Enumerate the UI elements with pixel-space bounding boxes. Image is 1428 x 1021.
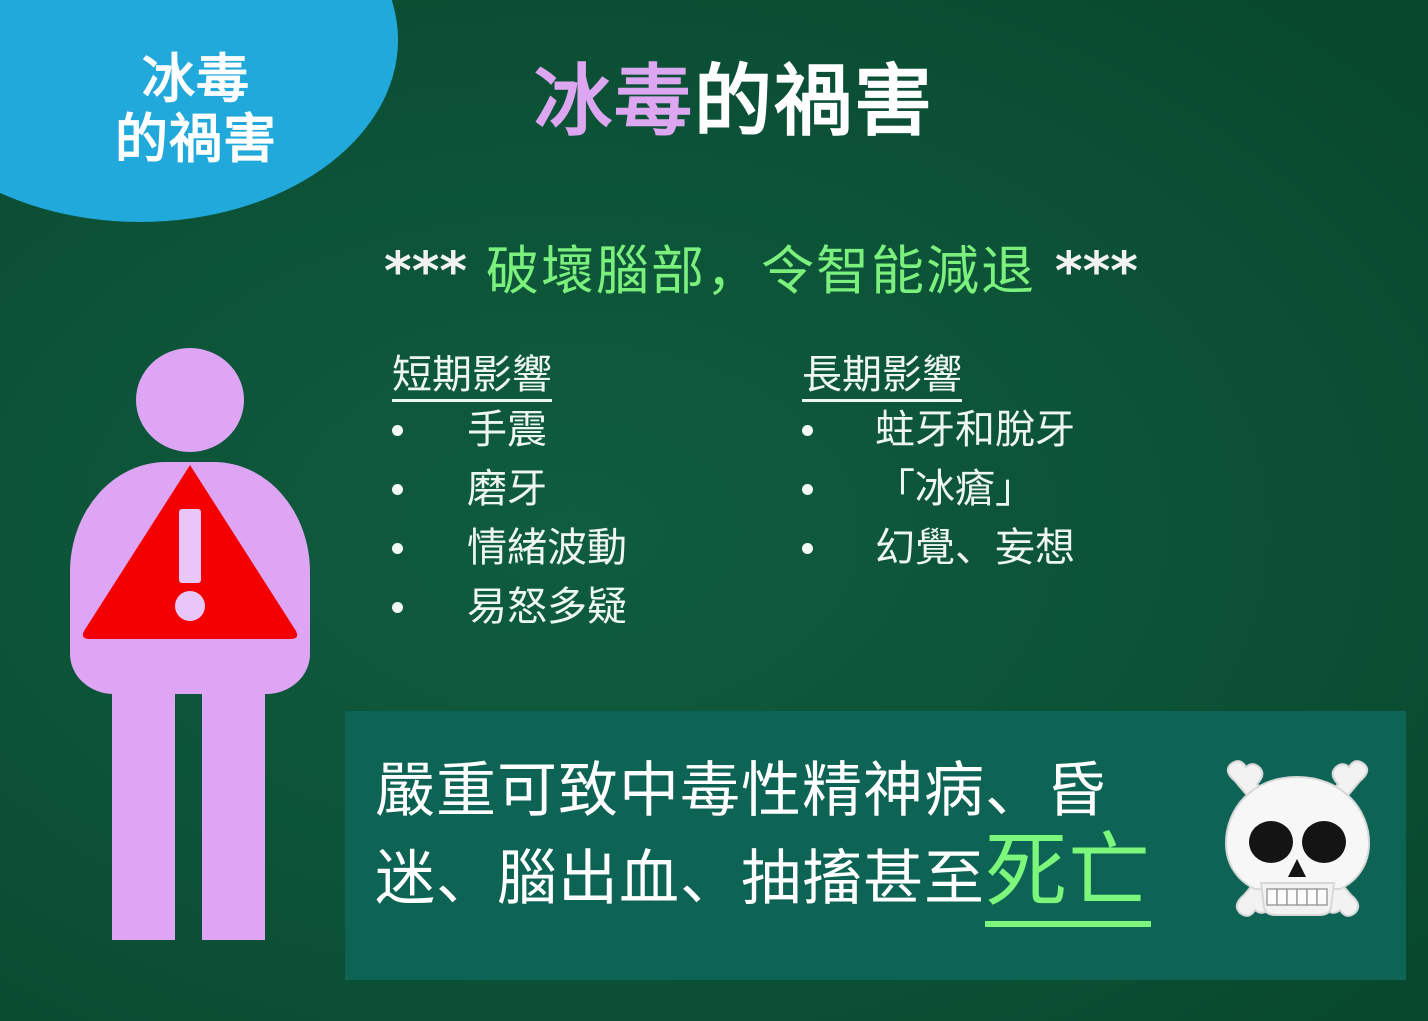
warning-panel-text: 嚴重可致中毒性精神病、昏迷、腦出血、抽搐甚至死亡 — [375, 749, 1210, 921]
person-leg-right — [202, 614, 265, 940]
list-item-label: 蛀牙和脫牙 — [875, 410, 1075, 450]
list-item-label: 「冰瘡」 — [875, 469, 1035, 509]
short-term-column: 短期影響 手震 磨牙 情緒波動 易怒多疑 — [392, 354, 782, 646]
skull-and-crossbones-icon — [1205, 755, 1390, 930]
bullet-dot-icon — [392, 425, 403, 436]
long-term-column: 長期影響 蛀牙和脫牙 「冰瘡」 幻覺、妄想 — [802, 354, 1202, 587]
subtitle-stars-right: *** — [1055, 241, 1138, 302]
list-item: 易怒多疑 — [392, 587, 782, 627]
person-head — [136, 348, 244, 452]
list-item: 情緒波動 — [392, 528, 782, 568]
person-leg-left — [112, 614, 175, 940]
corner-badge-line2: 的禍害 — [115, 110, 277, 170]
long-term-heading: 長期影響 — [802, 354, 962, 402]
long-term-list: 蛀牙和脫牙 「冰瘡」 幻覺、妄想 — [802, 410, 1202, 568]
corner-badge-text: 冰毒 的禍害 — [3, 50, 277, 170]
warning-triangle-icon — [80, 461, 300, 643]
slide-canvas: 冰毒 的禍害 冰毒的禍害 *** 破壞腦部，令智能減退 *** 短期影響 手震 … — [0, 0, 1428, 1021]
subtitle-stars-left: *** — [384, 241, 467, 302]
bullet-dot-icon — [802, 484, 813, 495]
page-title-highlight: 冰毒 — [534, 57, 694, 147]
person-pictogram — [44, 348, 334, 940]
corner-badge-line1: 冰毒 — [115, 50, 277, 110]
bullet-dot-icon — [392, 602, 403, 613]
short-term-list: 手震 磨牙 情緒波動 易怒多疑 — [392, 410, 782, 627]
list-item: 蛀牙和脫牙 — [802, 410, 1202, 450]
bullet-dot-icon — [392, 543, 403, 554]
list-item-label: 幻覺、妄想 — [875, 528, 1075, 568]
short-term-heading: 短期影響 — [392, 354, 552, 402]
list-item: 幻覺、妄想 — [802, 528, 1202, 568]
bullet-dot-icon — [392, 484, 403, 495]
list-item-label: 磨牙 — [467, 469, 547, 509]
corner-badge: 冰毒 的禍害 — [0, 0, 398, 222]
page-title: 冰毒的禍害 — [534, 63, 934, 141]
bullet-dot-icon — [802, 543, 813, 554]
list-item-label: 手震 — [467, 410, 547, 450]
list-item-label: 情緒波動 — [467, 528, 627, 568]
list-item-label: 易怒多疑 — [467, 587, 627, 627]
list-item: 手震 — [392, 410, 782, 450]
death-emphasis: 死亡 — [985, 824, 1151, 927]
page-title-rest: 的禍害 — [694, 57, 934, 147]
list-item: 「冰瘡」 — [802, 469, 1202, 509]
subtitle: *** 破壞腦部，令智能減退 *** — [384, 245, 1138, 298]
bullet-dot-icon — [802, 425, 813, 436]
subtitle-text: 破壞腦部，令智能減退 — [467, 241, 1055, 302]
list-item: 磨牙 — [392, 469, 782, 509]
